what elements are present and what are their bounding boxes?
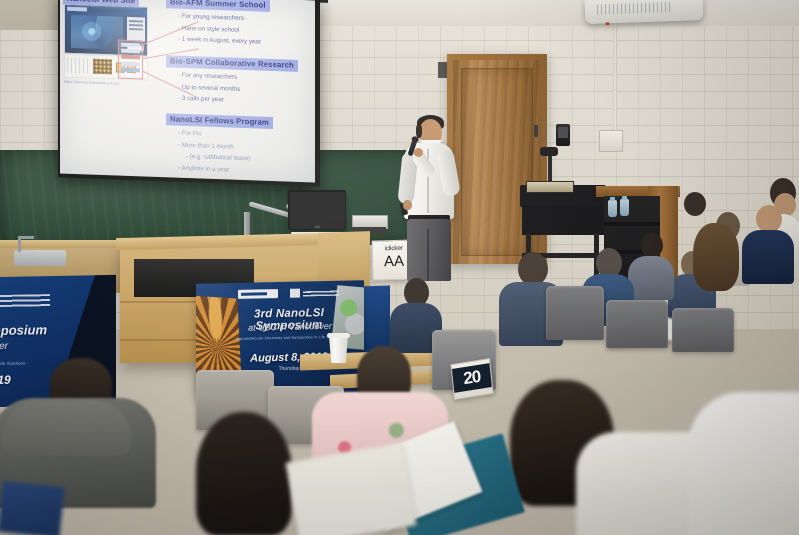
waveform-thumbnail <box>67 58 89 74</box>
nanolsi-logo-icon <box>67 6 87 11</box>
wall-junction-box <box>599 130 623 152</box>
projector-led <box>605 22 609 25</box>
seat-number-label: 20 <box>452 363 492 393</box>
lecture-seat[interactable] <box>672 308 734 352</box>
coffee-cup-lid <box>327 333 350 338</box>
sink-basin <box>14 250 66 266</box>
seat-number-sign: 20 <box>450 358 493 400</box>
bullet: 3 calls per year <box>178 93 240 107</box>
projection-screen: NanoLSI Web Site https://nanolsi.kanazaw… <box>60 0 315 182</box>
ubc-wordmark-icon <box>0 294 50 307</box>
lecture-seat[interactable] <box>606 300 668 348</box>
photo-scene: NanoLSI Web Site https://nanolsi.kanazaw… <box>0 0 799 535</box>
lecture-seat[interactable] <box>546 286 604 340</box>
website-hero-graphic <box>71 15 123 50</box>
monitor-brand-label: LG <box>312 225 323 229</box>
slide-bullets-summer-school: For young researchers Hans-on style scho… <box>178 11 261 48</box>
slide-bullets-collaborative-research: For any researchers Up to several months… <box>178 70 240 107</box>
lectern-monitor[interactable]: LG <box>288 190 346 230</box>
door-hinge-upper <box>534 125 538 137</box>
ohp-stage <box>526 181 574 193</box>
afm-image-thumbnail <box>93 59 112 75</box>
bullet: 1 week in August, every year <box>178 34 261 48</box>
faucet <box>18 236 21 252</box>
slide-callout-box <box>118 40 143 80</box>
presenter-hand-mic <box>414 148 423 157</box>
presenter-trousers <box>407 219 451 281</box>
water-bottle-2 <box>620 199 629 216</box>
ceiling-projector <box>585 0 704 24</box>
coffee-cup <box>329 336 348 363</box>
monitor-screen <box>290 192 345 229</box>
website-side-panel <box>127 17 145 42</box>
presenter-hand-clicker <box>403 200 412 210</box>
program-booklet-blue <box>0 481 64 535</box>
slide-bullets-fellows-program: For PIs More than 1 month (e.g. sabbatic… <box>178 128 250 177</box>
water-bottle-1 <box>608 200 617 217</box>
cart-body <box>522 205 604 235</box>
slide-heading-fellows-program: NanoLSI Fellows Program <box>166 113 273 129</box>
slide-url: https://nanolsi.kanazawa-u.ac.jp/ <box>64 80 119 86</box>
presentation-slide: NanoLSI Web Site https://nanolsi.kanazaw… <box>60 0 315 182</box>
ohp-head <box>540 147 558 156</box>
program-pages <box>286 442 417 535</box>
wall-mounted-device <box>556 124 570 146</box>
projector-vent <box>597 2 671 15</box>
ohp-arm <box>548 153 552 183</box>
